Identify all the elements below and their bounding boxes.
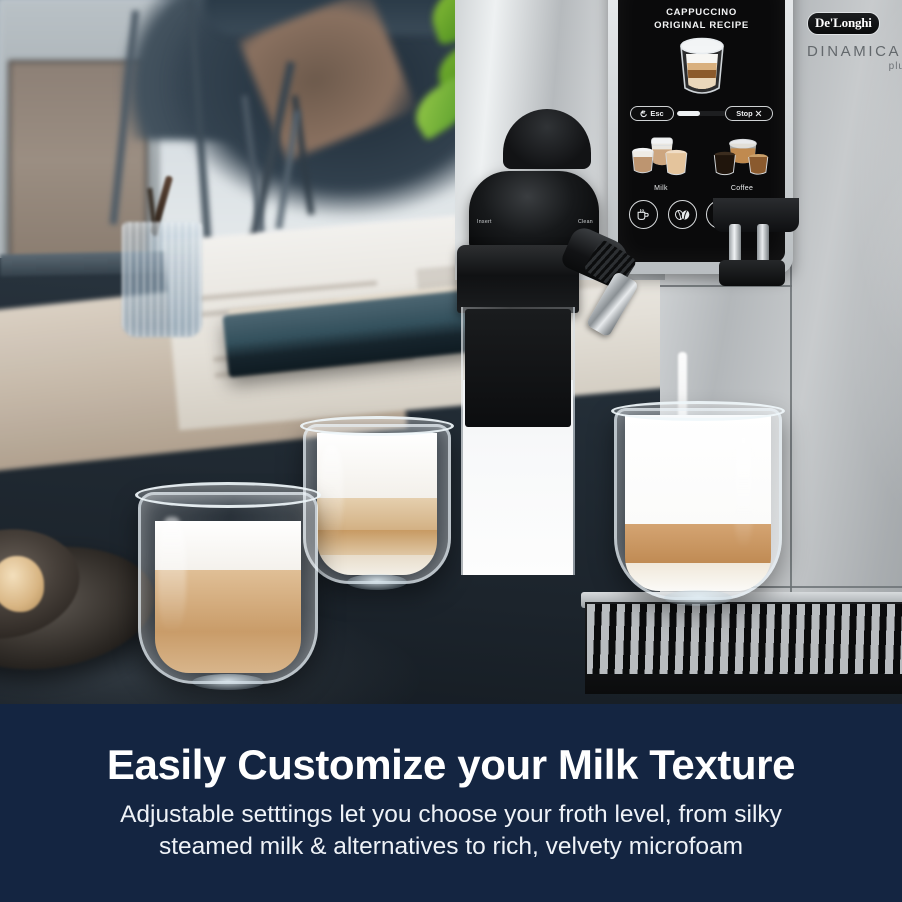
glass-rim (611, 401, 785, 421)
drip-tray-grid (587, 604, 902, 674)
spout-head (719, 260, 785, 286)
milk-group[interactable]: Milk (623, 136, 699, 192)
model-name: DINAMICA (807, 43, 902, 60)
brew-progress-fill (677, 111, 700, 116)
glass-highlight (158, 517, 186, 632)
milk-base-layer (625, 563, 771, 591)
milk-base-layer (317, 555, 436, 575)
marketing-banner: Easily Customize your Milk Texture Adjus… (0, 704, 902, 902)
glass-highlight (734, 433, 753, 548)
milk-carafe[interactable]: Insert Clean (455, 245, 585, 575)
display-drink-groups: Milk (618, 136, 785, 194)
pen-holder-glass-ribs (122, 222, 202, 337)
dispensing-glass-on-drip-tray (614, 408, 782, 600)
back-arrow-icon (640, 110, 648, 118)
glass-outer-wall (303, 424, 451, 584)
back-left-cappuccino-glass (303, 424, 451, 584)
glass-outer-wall (138, 492, 318, 684)
coffee-group-label: Coffee (704, 185, 780, 192)
delonghi-logo: De'Longhi (807, 12, 880, 35)
coffee-beans-icon[interactable] (668, 200, 697, 229)
esc-button[interactable]: Esc (630, 106, 674, 121)
banner-subline-1: Adjustable setttings let you choose your… (120, 801, 782, 828)
dial-insert-label: Insert (477, 219, 492, 225)
stop-label: Stop (736, 109, 752, 118)
frother-chrome-tube (586, 271, 640, 338)
coffee-drinks-icon (706, 136, 778, 178)
dial-clean-label: Clean (578, 219, 593, 225)
banner-subline-2: steamed milk & alternatives to rich, vel… (159, 833, 743, 860)
stop-button[interactable]: Stop (725, 106, 773, 121)
coffee-group[interactable]: Coffee (704, 136, 780, 192)
close-x-icon (755, 110, 762, 117)
coffee-spout-assembly (713, 198, 799, 298)
brand-logo-area: De'Longhi DINAMICA plus (807, 12, 902, 72)
glass-highlight (320, 445, 343, 540)
display-title: CAPPUCCINO ORIGINAL RECIPE (618, 6, 785, 32)
glass-outer-wall (614, 408, 782, 600)
model-suffix: plus (807, 61, 902, 72)
glass-base (192, 674, 264, 690)
glass-base (664, 590, 731, 606)
milk-group-label: Milk (623, 185, 699, 192)
milk-drinks-icon (625, 136, 697, 178)
carafe-upper-housing (465, 309, 571, 427)
spout-arm (713, 198, 799, 232)
cappuccino-glass-icon (674, 36, 730, 100)
product-lifestyle-image: De'Longhi DINAMICA plus CAPPUCCINO ORIGI… (0, 0, 902, 902)
glass-rim (300, 416, 454, 436)
display-title-line-2: ORIGINAL RECIPE (618, 19, 785, 32)
banner-headline: Easily Customize your Milk Texture (107, 743, 795, 787)
banner-subline: Adjustable setttings let you choose your… (120, 799, 782, 864)
display-title-line-1: CAPPUCCINO (618, 6, 785, 19)
esc-label: Esc (650, 109, 663, 118)
brew-progress-bar (677, 111, 726, 116)
display-control-bar: Esc Stop (630, 106, 773, 121)
photo-area: De'Longhi DINAMICA plus CAPPUCCINO ORIGI… (0, 0, 902, 704)
drinks-icon[interactable] (629, 200, 658, 229)
front-left-cappuccino-glass (138, 492, 318, 684)
glass-base (347, 574, 406, 590)
glass-rim (135, 482, 321, 508)
